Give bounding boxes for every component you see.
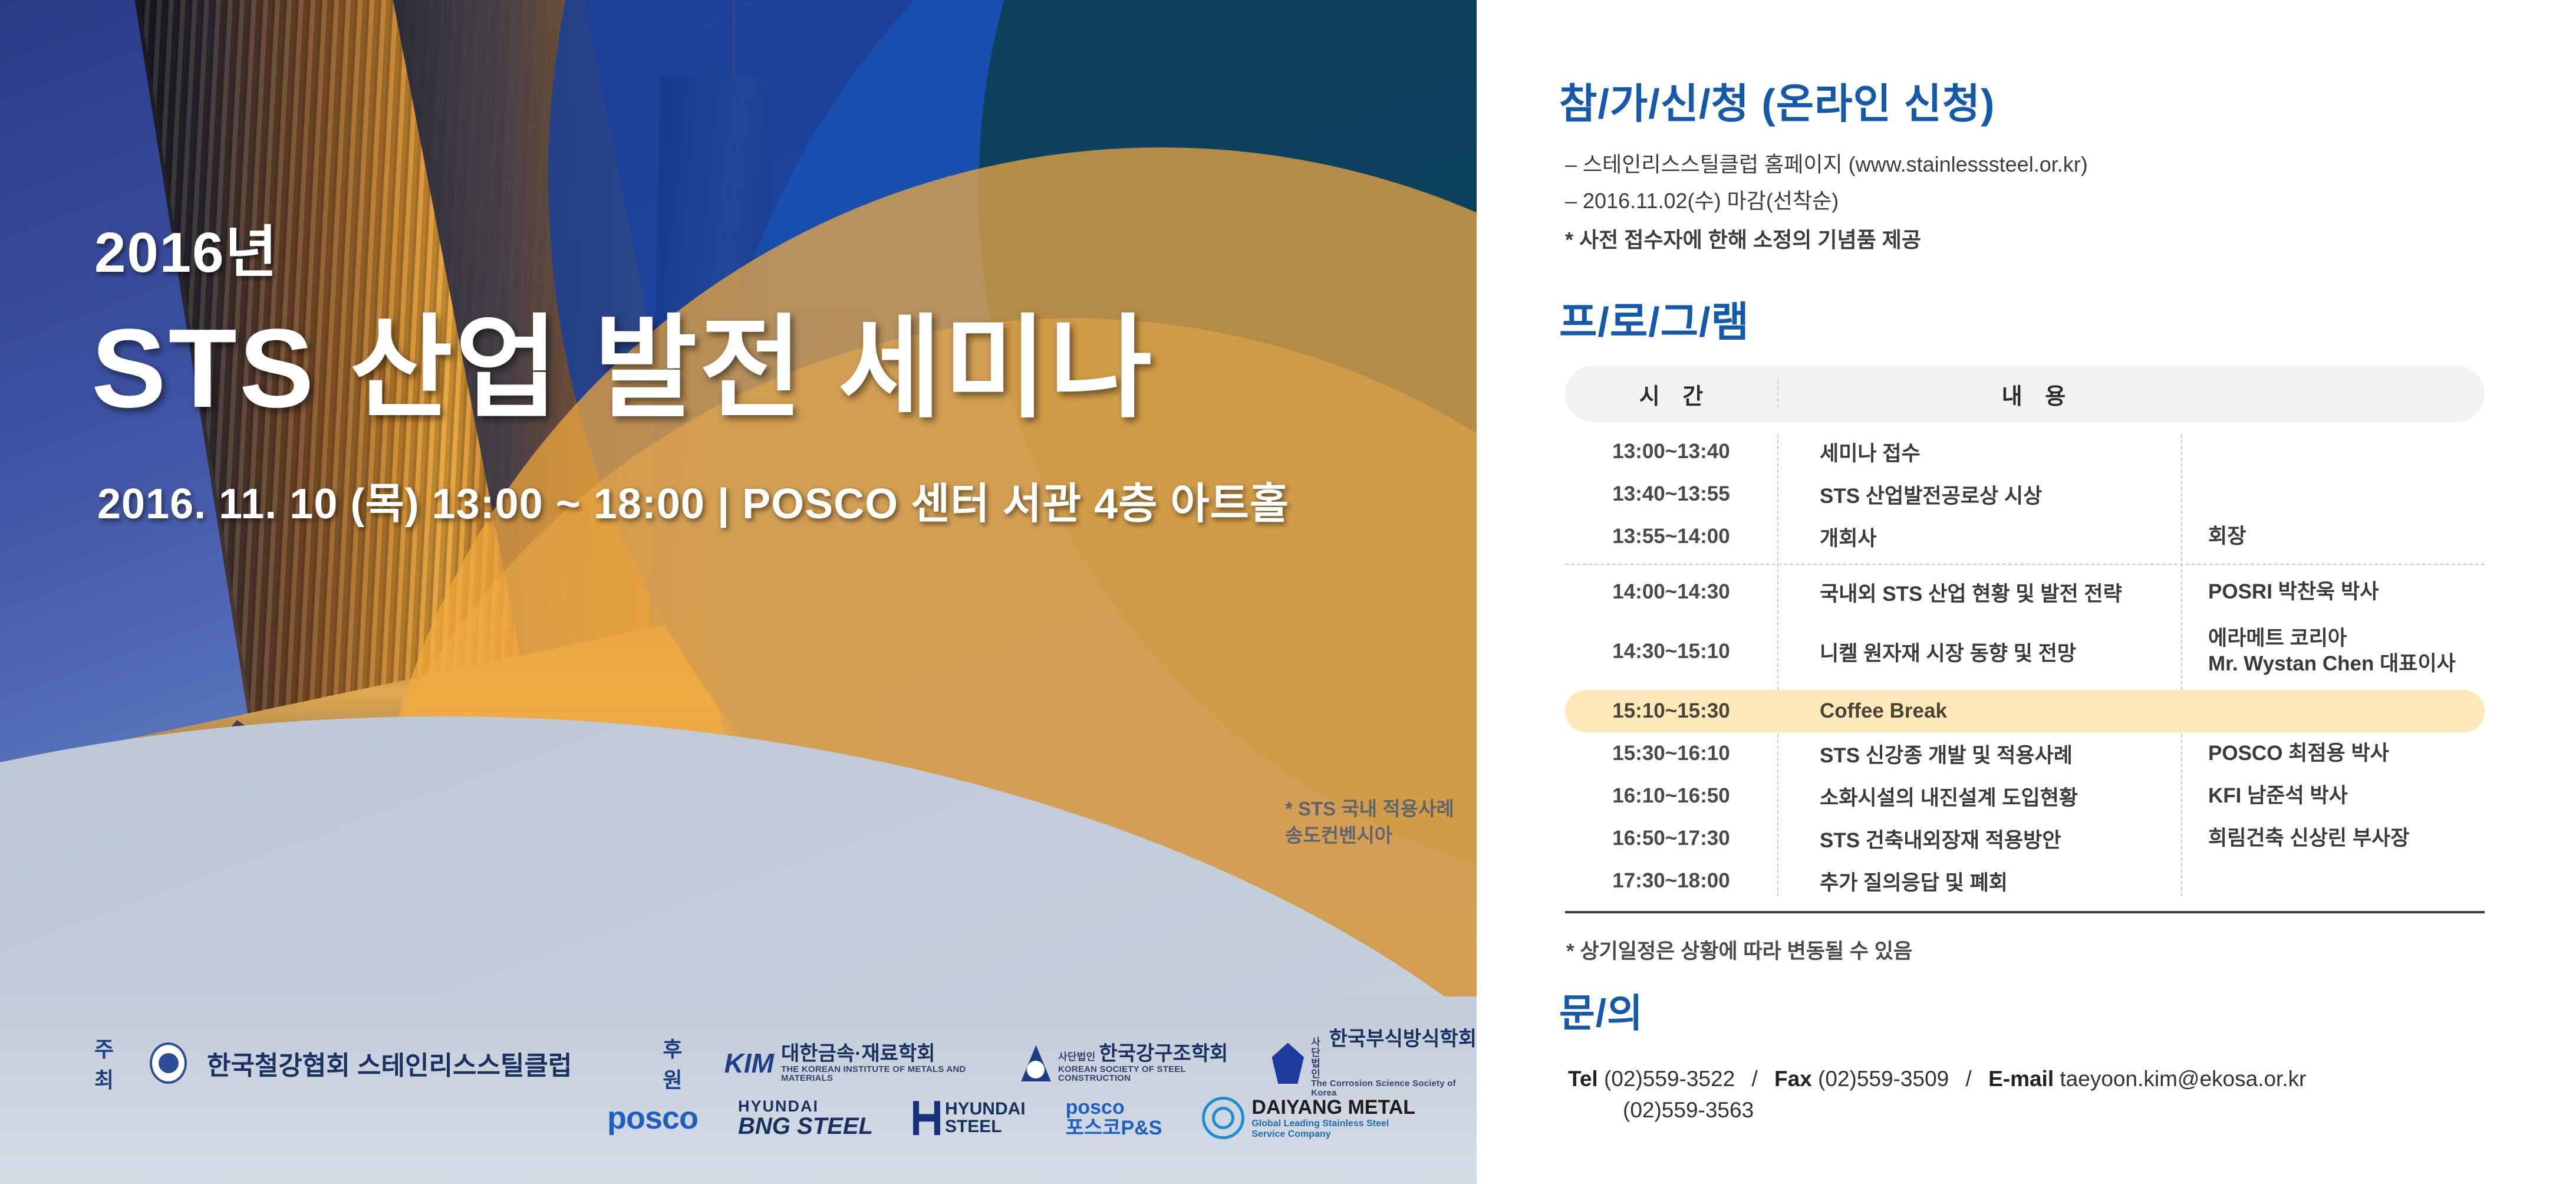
tel-secondary: (02)559-3563 <box>1623 1098 1754 1123</box>
schedule-time: 16:10~16:50 <box>1565 784 1777 808</box>
schedule-time: 13:40~13:55 <box>1565 482 1777 506</box>
sponsor-kim-name-ko: 대한금속·재료학회 <box>781 1044 986 1065</box>
email-value[interactable]: taeyoon.kim@ekosa.or.kr <box>2060 1067 2306 1091</box>
schedule-speaker: POSRI 박찬욱 박사 <box>2181 580 2485 605</box>
hyundai-h-icon <box>913 1101 940 1135</box>
sponsor-kssc-prefix: 사단법인 <box>1058 1052 1095 1063</box>
daiyang-tagline-1: Global Leading Stainless Steel <box>1251 1119 1415 1129</box>
hero-image-panel: 2016년 STS 산업 발전 세미나 2016. 11. 10 (목) 13:… <box>0 0 1477 1184</box>
hyundai-top: HYUNDAI <box>945 1100 1026 1118</box>
seminar-poster: 2016년 STS 산업 발전 세미나 2016. 11. 10 (목) 13:… <box>0 0 2576 1184</box>
contact-sep-1: / <box>1741 1067 1768 1091</box>
sponsor-kim-name-en: THE KOREAN INSTITUTE OF METALS AND MATER… <box>781 1065 986 1084</box>
schedule-content: 국내외 STS 산업 현황 및 발전 전략 <box>1777 577 2181 607</box>
schedule-time: 17:30~18:00 <box>1565 869 1777 893</box>
header-column-divider <box>1777 380 1778 408</box>
sponsor-logo-hyundai-steel: HYUNDAI STEEL <box>913 1100 1026 1136</box>
sponsor-area: 주최 한국철강협회 스테인리스스틸클럽 후원 KIM 대한금속·재료학회 THE… <box>0 1023 1477 1176</box>
sponsor-logo-posco-pns: posco 포스코P&S <box>1066 1097 1162 1139</box>
host-name: 한국철강협회 스테인리스스틸클럽 <box>207 1044 572 1082</box>
column-header-content: 내 용 <box>1777 378 2290 410</box>
kisa-logo-icon <box>150 1042 187 1084</box>
kssc-mark-icon <box>1021 1045 1051 1081</box>
schedule-row: 16:10~16:50소화시설의 내진설계 도입현황KFI 남준석 박사 <box>1565 775 2485 817</box>
sponsor-cssk-name-en: The Corrosion Science Society of Korea <box>1311 1079 1477 1098</box>
schedule-time: 14:00~14:30 <box>1565 580 1777 604</box>
program-section-heading: 프/로/그/램 <box>1559 289 1750 348</box>
bng-bottom: BNG STEEL <box>738 1114 873 1138</box>
schedule-speaker: KFI 남준석 박사 <box>2181 784 2485 809</box>
schedule-content: STS 신강종 개발 및 적용사례 <box>1777 739 2181 769</box>
contact-line: Tel (02)559-3522 / Fax (02)559-3509 / E-… <box>1568 1061 2306 1097</box>
schedule-time: 15:10~15:30 <box>1565 699 1777 723</box>
apply-section-heading: 참/가/신/청 (온라인 신청) <box>1559 71 1995 130</box>
table-body: 13:00~13:40세미나 접수13:40~13:55STS 산업발전공로상 … <box>1565 430 2485 902</box>
sponsor-logo-posco: posco <box>607 1100 698 1136</box>
cssk-mark-icon <box>1272 1042 1305 1084</box>
schedule-row: 14:00~14:30국내외 STS 산업 현황 및 발전 전략POSRI 박찬… <box>1565 571 2485 613</box>
poster-title: STS 산업 발전 세미나 <box>91 277 1154 439</box>
apply-line-deadline: – 2016.11.02(수) 마감(선착순) <box>1565 183 2088 219</box>
photo-credit-line-1: * STS 국내 적용사례 <box>1285 796 1454 823</box>
schedule-time: 14:30~15:10 <box>1565 640 1777 663</box>
schedule-content: 개회사 <box>1777 522 2181 552</box>
daiyang-name: DAIYANG METAL <box>1251 1097 1415 1119</box>
schedule-speaker: 에라메트 코리아Mr. Wystan Chen 대표이사 <box>2181 626 2485 676</box>
schedule-row: 15:30~16:10STS 신강종 개발 및 적용사례POSCO 최점용 박사 <box>1565 732 2485 775</box>
schedule-content: 니켈 원자재 시장 동향 및 전망 <box>1777 637 2181 667</box>
tel-label: Tel <box>1568 1067 1598 1091</box>
poster-year: 2016년 <box>94 206 278 288</box>
fax-value: (02)559-3509 <box>1818 1067 1949 1091</box>
apply-details: – 스테인리스스틸클럽 홈페이지 (www.stainlesssteel.or.… <box>1565 146 2088 219</box>
corporate-sponsor-row: posco HYUNDAI BNG STEEL HYUNDAI STEEL po… <box>607 1097 1415 1140</box>
sponsor-cssk-prefix: 사단법인 <box>1311 1037 1326 1079</box>
schedule-time: 13:55~14:00 <box>1565 525 1777 548</box>
bng-top: HYUNDAI <box>738 1099 873 1114</box>
daiyang-tagline-2: Service Company <box>1251 1129 1415 1140</box>
email-label: E-mail <box>1988 1067 2054 1091</box>
schedule-time: 13:00~13:40 <box>1565 440 1777 463</box>
apply-gift-note: * 사전 접수자에 한해 소정의 기념품 제공 <box>1565 223 1921 254</box>
poster-datetime-venue: 2016. 11. 10 (목) 13:00 ~ 18:00 | POSCO 센… <box>97 469 1289 531</box>
hyundai-bottom: STEEL <box>945 1118 1026 1136</box>
daiyang-target-icon <box>1202 1097 1244 1139</box>
info-panel: 참/가/신/청 (온라인 신청) – 스테인리스스틸클럽 홈페이지 (www.s… <box>1477 0 2576 1184</box>
schedule-time: 16:50~17:30 <box>1565 827 1777 850</box>
photo-credit-line-2: 송도컨벤시아 <box>1285 823 1454 849</box>
schedule-speaker: 회장 <box>2181 524 2485 550</box>
schedule-content: 세미나 접수 <box>1777 437 2181 467</box>
table-header-row: 시 간 내 용 <box>1565 366 2485 422</box>
inquiry-section-heading: 문/의 <box>1559 982 1643 1038</box>
schedule-row: 13:40~13:55STS 산업발전공로상 시상 <box>1565 473 2485 515</box>
schedule-row: 13:00~13:40세미나 접수 <box>1565 430 2485 473</box>
table-bottom-rule <box>1565 911 2485 913</box>
schedule-row: 16:50~17:30STS 건축내외장재 적용방안희림건축 신상린 부사장 <box>1565 817 2485 860</box>
schedule-row: 15:10~15:30Coffee Break <box>1565 690 2485 732</box>
schedule-speaker: 희림건축 신상린 부사장 <box>2181 826 2485 851</box>
sponsor-logo-daiyang-metal: DAIYANG METAL Global Leading Stainless S… <box>1202 1097 1415 1140</box>
sponsor-cssk-name-ko: 한국부식방식학회 <box>1329 1029 1477 1050</box>
column-header-time: 시 간 <box>1565 378 1777 410</box>
sponsor-logo-bng-steel: HYUNDAI BNG STEEL <box>738 1099 873 1138</box>
schedule-time: 15:30~16:10 <box>1565 742 1777 765</box>
schedule-content: STS 산업발전공로상 시상 <box>1777 479 2181 509</box>
kim-mark-icon: KIM <box>724 1047 774 1079</box>
posco-pns-bottom: 포스코P&S <box>1066 1118 1162 1139</box>
tel-value: (02)559-3522 <box>1604 1067 1735 1091</box>
schedule-content: 추가 질의응답 및 폐회 <box>1777 866 2181 896</box>
fax-label: Fax <box>1774 1067 1812 1091</box>
schedule-row: 17:30~18:00추가 질의응답 및 폐회 <box>1565 860 2485 902</box>
program-schedule-table: 시 간 내 용 13:00~13:40세미나 접수13:40~13:55STS … <box>1565 366 2485 902</box>
schedule-change-note: * 상기일정은 상황에 따라 변동될 수 있음 <box>1566 935 1912 965</box>
apply-line-homepage: – 스테인리스스틸클럽 홈페이지 (www.stainlesssteel.or.… <box>1565 146 2088 183</box>
schedule-group-divider <box>1565 564 2485 565</box>
sponsor-logo-kim: KIM 대한금속·재료학회 THE KOREAN INSTITUTE OF ME… <box>724 1044 986 1083</box>
schedule-row: 14:30~15:10니켈 원자재 시장 동향 및 전망에라메트 코리아Mr. … <box>1565 613 2485 690</box>
schedule-speaker: POSCO 최점용 박사 <box>2181 741 2485 767</box>
sponsor-label: 후원 <box>663 1032 698 1094</box>
posco-pns-top: posco <box>1066 1097 1162 1119</box>
contact-sep-2: / <box>1955 1067 1982 1091</box>
sponsor-logo-kssc: 사단법인 한국강구조학회 KOREAN SOCIETY OF STEEL CON… <box>1021 1044 1237 1083</box>
schedule-row: 13:55~14:00개회사회장 <box>1565 515 2485 558</box>
sponsor-kssc-name-ko: 한국강구조학회 <box>1099 1044 1228 1065</box>
schedule-content: 소화시설의 내진설계 도입현황 <box>1777 781 2181 811</box>
host-label: 주최 <box>94 1032 130 1094</box>
sponsor-logo-cssk: 사단법인 한국부식방식학회 The Corrosion Science Soci… <box>1272 1029 1477 1098</box>
schedule-content: Coffee Break <box>1777 699 2181 723</box>
sponsor-kssc-name-en: KOREAN SOCIETY OF STEEL CONSTRUCTION <box>1058 1065 1237 1084</box>
schedule-content: STS 건축내외장재 적용방안 <box>1777 824 2181 854</box>
host-and-sponsor-row: 주최 한국철강협회 스테인리스스틸클럽 후원 KIM 대한금속·재료학회 THE… <box>94 1029 1477 1098</box>
photo-credit: * STS 국내 적용사례 송도컨벤시아 <box>1285 796 1454 848</box>
